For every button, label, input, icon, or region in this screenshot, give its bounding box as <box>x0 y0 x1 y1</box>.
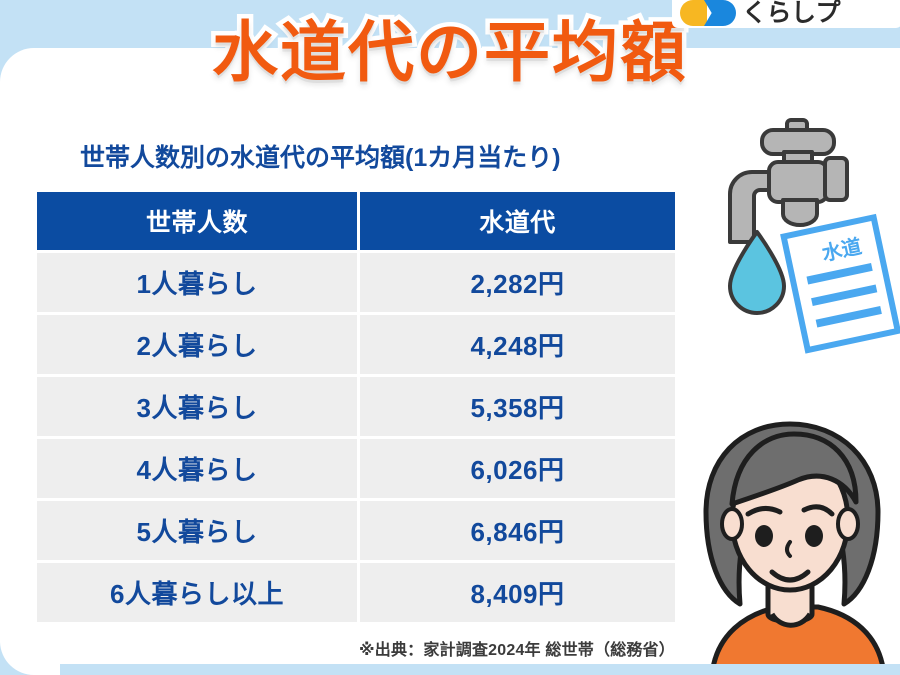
water-droplet-icon <box>730 232 784 313</box>
cell-amount: 4,248円 <box>360 315 675 374</box>
faucet-icon <box>730 120 847 242</box>
card-bottom-left-corner <box>0 630 60 675</box>
kurashi-logo-mark <box>680 0 736 26</box>
cell-household: 6人暮らし以上 <box>37 563 357 622</box>
table-row: 6人暮らし以上 8,409円 <box>37 563 675 622</box>
cell-amount: 6,026円 <box>360 439 675 498</box>
cell-household: 2人暮らし <box>37 315 357 374</box>
bottom-accent-strip <box>0 664 900 675</box>
cell-amount: 8,409円 <box>360 563 675 622</box>
water-bill-table: 世帯人数 水道代 1人暮らし 2,282円 2人暮らし 4,248円 3人暮らし… <box>37 192 675 625</box>
table-row: 1人暮らし 2,282円 <box>37 253 675 312</box>
table-row: 5人暮らし 6,846円 <box>37 501 675 560</box>
column-header-household: 世帯人数 <box>37 192 357 250</box>
water-bill-document-icon: 水道 <box>784 217 898 350</box>
table-subtitle: 世帯人数別の水道代の平均額(1カ月当たり) <box>80 138 561 174</box>
cell-amount: 6,846円 <box>360 501 675 560</box>
cell-amount: 5,358円 <box>360 377 675 436</box>
cell-household: 4人暮らし <box>37 439 357 498</box>
cell-household: 5人暮らし <box>37 501 357 560</box>
cell-household: 3人暮らし <box>37 377 357 436</box>
logo-text: くらしプ <box>742 0 840 26</box>
infographic-canvas: 水道 <box>0 0 900 675</box>
site-logo[interactable]: くらしプ <box>672 0 900 28</box>
cell-household: 1人暮らし <box>37 253 357 312</box>
table-row: 2人暮らし 4,248円 <box>37 315 675 374</box>
table-header-row: 世帯人数 水道代 <box>37 192 675 250</box>
cell-amount: 2,282円 <box>360 253 675 312</box>
woman-character-illustration <box>676 408 900 675</box>
table-row: 3人暮らし 5,358円 <box>37 377 675 436</box>
column-header-amount: 水道代 <box>360 192 675 250</box>
water-illustration-group: 水道 <box>700 100 900 370</box>
table-row: 4人暮らし 6,026円 <box>37 439 675 498</box>
source-note: ※出典：家計調査2024年 総世帯（総務省） <box>37 636 675 660</box>
